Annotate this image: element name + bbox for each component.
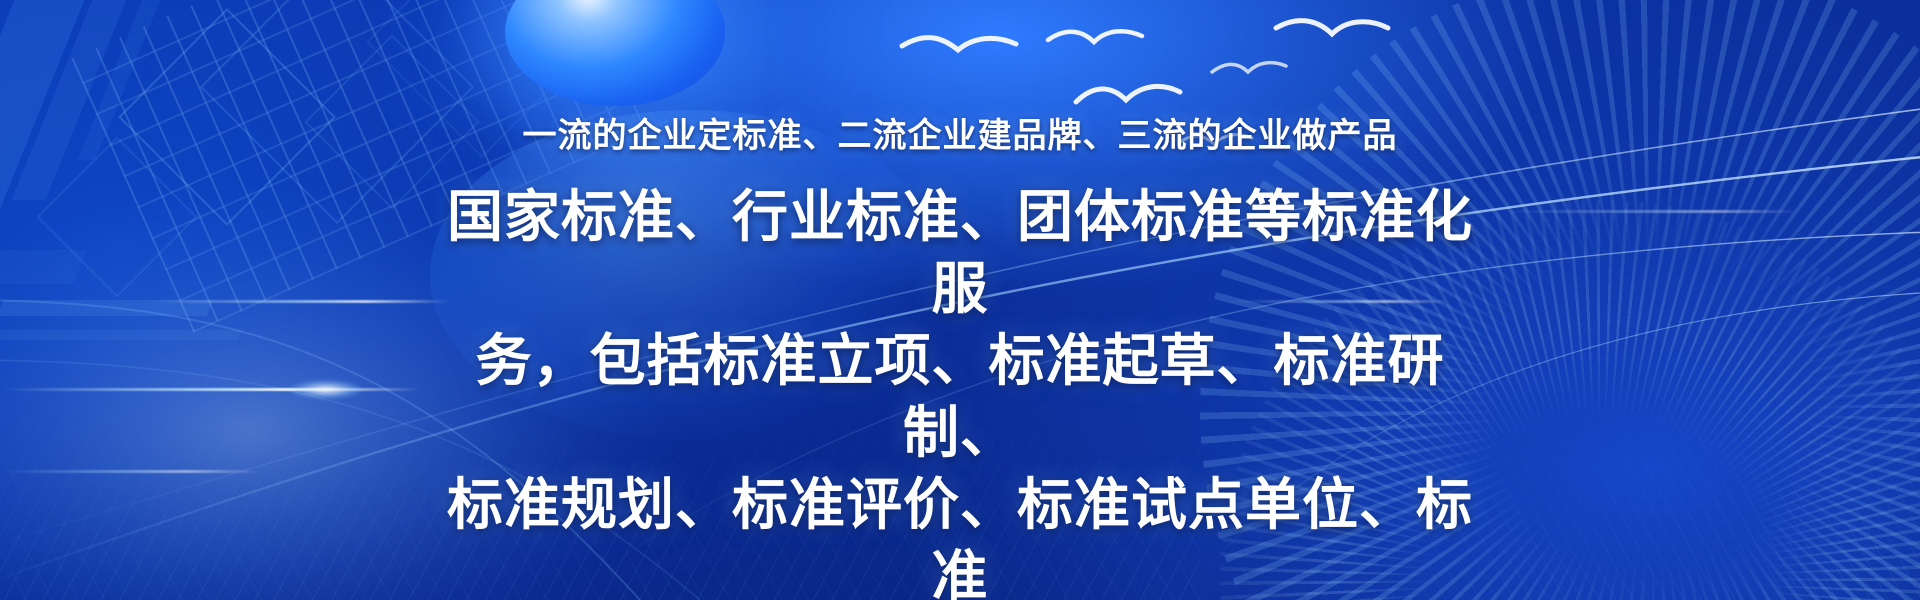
banner-headline-line: 务，包括标准立项、标准起草、标准研制、 (420, 325, 1500, 469)
banner-headline-line: 国家标准、行业标准、团体标准等标准化服 (420, 181, 1500, 325)
banner-subtitle: 一流的企业定标准、二流企业建品牌、三流的企业做产品 (523, 115, 1398, 157)
promo-banner: 一流的企业定标准、二流企业建品牌、三流的企业做产品 国家标准、行业标准、团体标准… (0, 0, 1920, 600)
banner-content: 一流的企业定标准、二流企业建品牌、三流的企业做产品 国家标准、行业标准、团体标准… (0, 0, 1920, 600)
banner-headline-line: 标准规划、标准评价、标准试点单位、标准 (420, 469, 1500, 600)
banner-headline: 国家标准、行业标准、团体标准等标准化服 务，包括标准立项、标准起草、标准研制、 … (420, 181, 1500, 600)
